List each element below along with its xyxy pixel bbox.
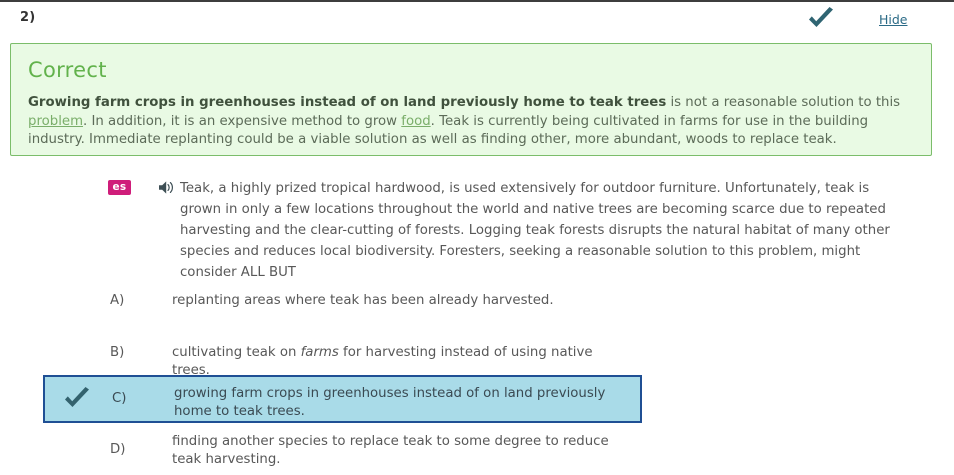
question-number: 2) (20, 10, 35, 25)
speaker-icon[interactable] (159, 180, 175, 195)
option-a-text: replanting areas where teak has been alr… (172, 292, 632, 310)
feedback-answer-restatement: Growing farm crops in greenhouses instea… (28, 95, 666, 110)
feedback-title: Correct (28, 58, 107, 82)
question-header: 2) Hide (0, 2, 954, 34)
option-c-letter: C) (112, 391, 126, 406)
option-b-letter: B) (110, 345, 124, 360)
feedback-text-2: . In addition, it is an expensive method… (83, 114, 401, 129)
option-a-letter: A) (110, 293, 124, 308)
correct-feedback-panel: Correct Growing farm crops in greenhouse… (10, 43, 932, 156)
option-c-text: growing farm crops in greenhouses instea… (174, 385, 644, 421)
passage-text: Teak, a highly prized tropical hardwood,… (180, 178, 912, 283)
option-b-text-before: cultivating teak on (172, 345, 301, 360)
language-badge-es[interactable]: es (108, 180, 131, 195)
answer-option-d[interactable]: D) finding another species to replace te… (43, 430, 642, 466)
feedback-text-1: is not a reasonable solution to this (666, 95, 900, 110)
option-d-text: finding another species to replace teak … (172, 433, 632, 469)
option-d-letter: D) (110, 442, 125, 457)
check-icon (62, 386, 92, 412)
feedback-link-food[interactable]: food (401, 114, 430, 129)
answer-option-c-selected[interactable]: C) growing farm crops in greenhouses ins… (43, 375, 642, 423)
answer-option-b[interactable]: B) cultivating teak on farms for harvest… (43, 340, 642, 366)
option-b-text-italic: farms (301, 345, 339, 360)
hide-link[interactable]: Hide (879, 12, 908, 27)
answer-option-a[interactable]: A) replanting areas where teak has been … (43, 288, 642, 314)
feedback-link-problem[interactable]: problem (28, 114, 83, 129)
feedback-body: Growing farm crops in greenhouses instea… (28, 94, 916, 150)
check-icon (806, 6, 836, 32)
